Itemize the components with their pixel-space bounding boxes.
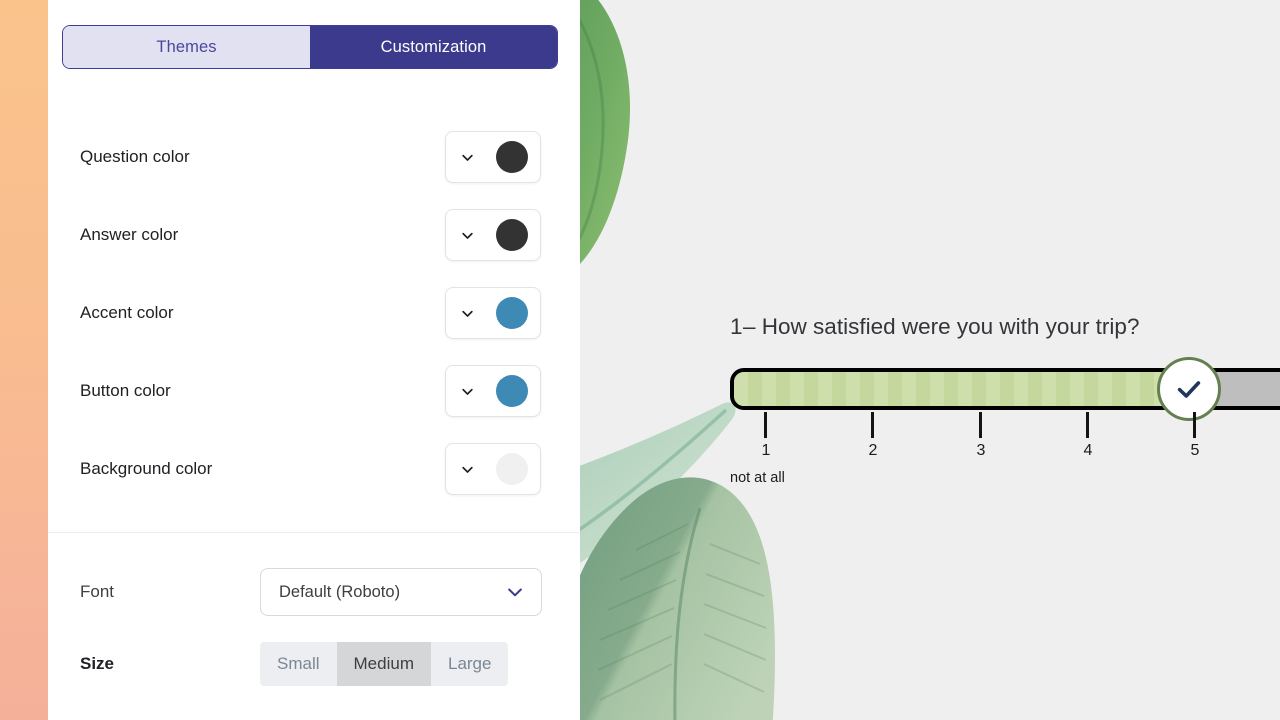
row-answer-color: Answer color	[48, 196, 580, 274]
size-option-large-label: Large	[448, 654, 491, 674]
accent-color-swatch[interactable]	[496, 297, 528, 329]
row-question-color: Question color	[48, 118, 580, 196]
size-option-large[interactable]: Large	[431, 642, 508, 686]
check-icon	[1174, 374, 1204, 404]
scale-anchor-low: not at all	[730, 470, 785, 486]
scale-tick-label: 2	[869, 442, 878, 460]
satisfaction-slider[interactable]	[730, 368, 1280, 412]
scale-tick	[1086, 412, 1089, 438]
question-color-picker[interactable]	[445, 131, 541, 183]
tab-themes[interactable]: Themes	[63, 26, 310, 68]
customization-settings-panel: Themes Customization Question color Answ…	[48, 0, 580, 720]
question-text: How satisfied were you with your trip?	[762, 314, 1140, 339]
preview-question: 1– How satisfied were you with your trip…	[730, 314, 1139, 340]
tab-group: Themes Customization	[62, 25, 558, 69]
tab-customization[interactable]: Customization	[310, 26, 557, 68]
slider-fill	[734, 372, 1187, 406]
font-select[interactable]: Default (Roboto)	[260, 568, 542, 616]
edge-gradient-strip	[0, 0, 48, 720]
font-label: Font	[80, 582, 114, 602]
slider-scale: 1 2 3 4 5 not at all	[730, 412, 1280, 492]
answer-color-swatch[interactable]	[496, 219, 528, 251]
row-background-color: Background color	[48, 430, 580, 508]
chevron-down-icon	[460, 306, 475, 321]
question-separator: –	[743, 314, 756, 339]
background-color-picker[interactable]	[445, 443, 541, 495]
accent-color-label: Accent color	[80, 303, 174, 323]
question-color-swatch[interactable]	[496, 141, 528, 173]
survey-preview: 1– How satisfied were you with your trip…	[580, 0, 1280, 720]
app-root: Themes Customization Question color Answ…	[0, 0, 1280, 720]
section-divider	[48, 532, 580, 533]
scale-tick	[764, 412, 767, 438]
scale-tick-label: 1	[762, 442, 771, 460]
scale-tick	[871, 412, 874, 438]
row-size: Size Small Medium Large	[48, 634, 580, 694]
size-option-medium[interactable]: Medium	[337, 642, 431, 686]
chevron-down-icon	[460, 462, 475, 477]
answer-color-label: Answer color	[80, 225, 178, 245]
background-color-label: Background color	[80, 459, 212, 479]
color-settings-list: Question color Answer color	[48, 118, 580, 508]
chevron-down-icon	[505, 582, 525, 602]
row-accent-color: Accent color	[48, 274, 580, 352]
font-selected-value: Default (Roboto)	[279, 583, 400, 602]
size-segmented-control: Small Medium Large	[260, 642, 508, 686]
background-color-swatch[interactable]	[496, 453, 528, 485]
scale-tick	[1193, 412, 1196, 438]
size-option-small-label: Small	[277, 654, 320, 674]
question-color-label: Question color	[80, 147, 190, 167]
size-label: Size	[80, 654, 114, 674]
scale-tick-label: 5	[1191, 442, 1200, 460]
row-button-color: Button color	[48, 352, 580, 430]
tab-themes-label: Themes	[156, 38, 216, 57]
size-option-small[interactable]: Small	[260, 642, 337, 686]
scale-tick-label: 4	[1084, 442, 1093, 460]
row-font: Font Default (Roboto)	[48, 562, 580, 622]
button-color-picker[interactable]	[445, 365, 541, 417]
tab-customization-label: Customization	[381, 38, 487, 57]
question-number: 1	[730, 314, 743, 339]
size-option-medium-label: Medium	[354, 654, 414, 674]
answer-color-picker[interactable]	[445, 209, 541, 261]
scale-tick	[979, 412, 982, 438]
chevron-down-icon	[460, 384, 475, 399]
button-color-swatch[interactable]	[496, 375, 528, 407]
button-color-label: Button color	[80, 381, 171, 401]
chevron-down-icon	[460, 228, 475, 243]
scale-tick-label: 3	[977, 442, 986, 460]
accent-color-picker[interactable]	[445, 287, 541, 339]
chevron-down-icon	[460, 150, 475, 165]
